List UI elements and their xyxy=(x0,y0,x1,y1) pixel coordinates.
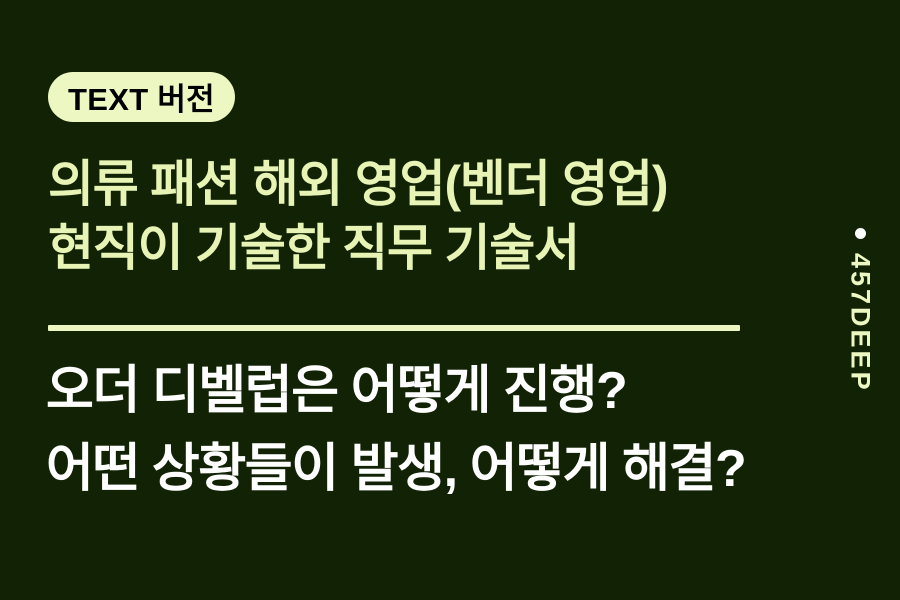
subheadline-block: 오더 디벨럽은 어떻게 진행? 어떤 상황들이 발생, 어떻게 해결? xyxy=(46,352,876,508)
dot-icon xyxy=(855,228,866,239)
headline-block: 의류 패션 해외 영업(벤더 영업) 현직이 기술한 직무 기술서 xyxy=(48,152,808,280)
brand-label: 457DEEP xyxy=(847,253,874,393)
headline-line-2: 현직이 기술한 직무 기술서 xyxy=(48,216,808,280)
headline-line-1: 의류 패션 해외 영업(벤더 영업) xyxy=(48,152,808,216)
subheadline-line-1: 오더 디벨럽은 어떻게 진행? xyxy=(46,352,876,430)
badge-label: TEXT 버전 xyxy=(68,74,215,119)
subheadline-line-2: 어떤 상황들이 발생, 어떻게 해결? xyxy=(46,430,876,508)
section-divider xyxy=(48,325,740,331)
status-badge: TEXT 버전 xyxy=(48,72,235,122)
brand-mark: 457DEEP xyxy=(840,228,880,393)
poster-canvas: TEXT 버전 의류 패션 해외 영업(벤더 영업) 현직이 기술한 직무 기술… xyxy=(0,0,900,600)
